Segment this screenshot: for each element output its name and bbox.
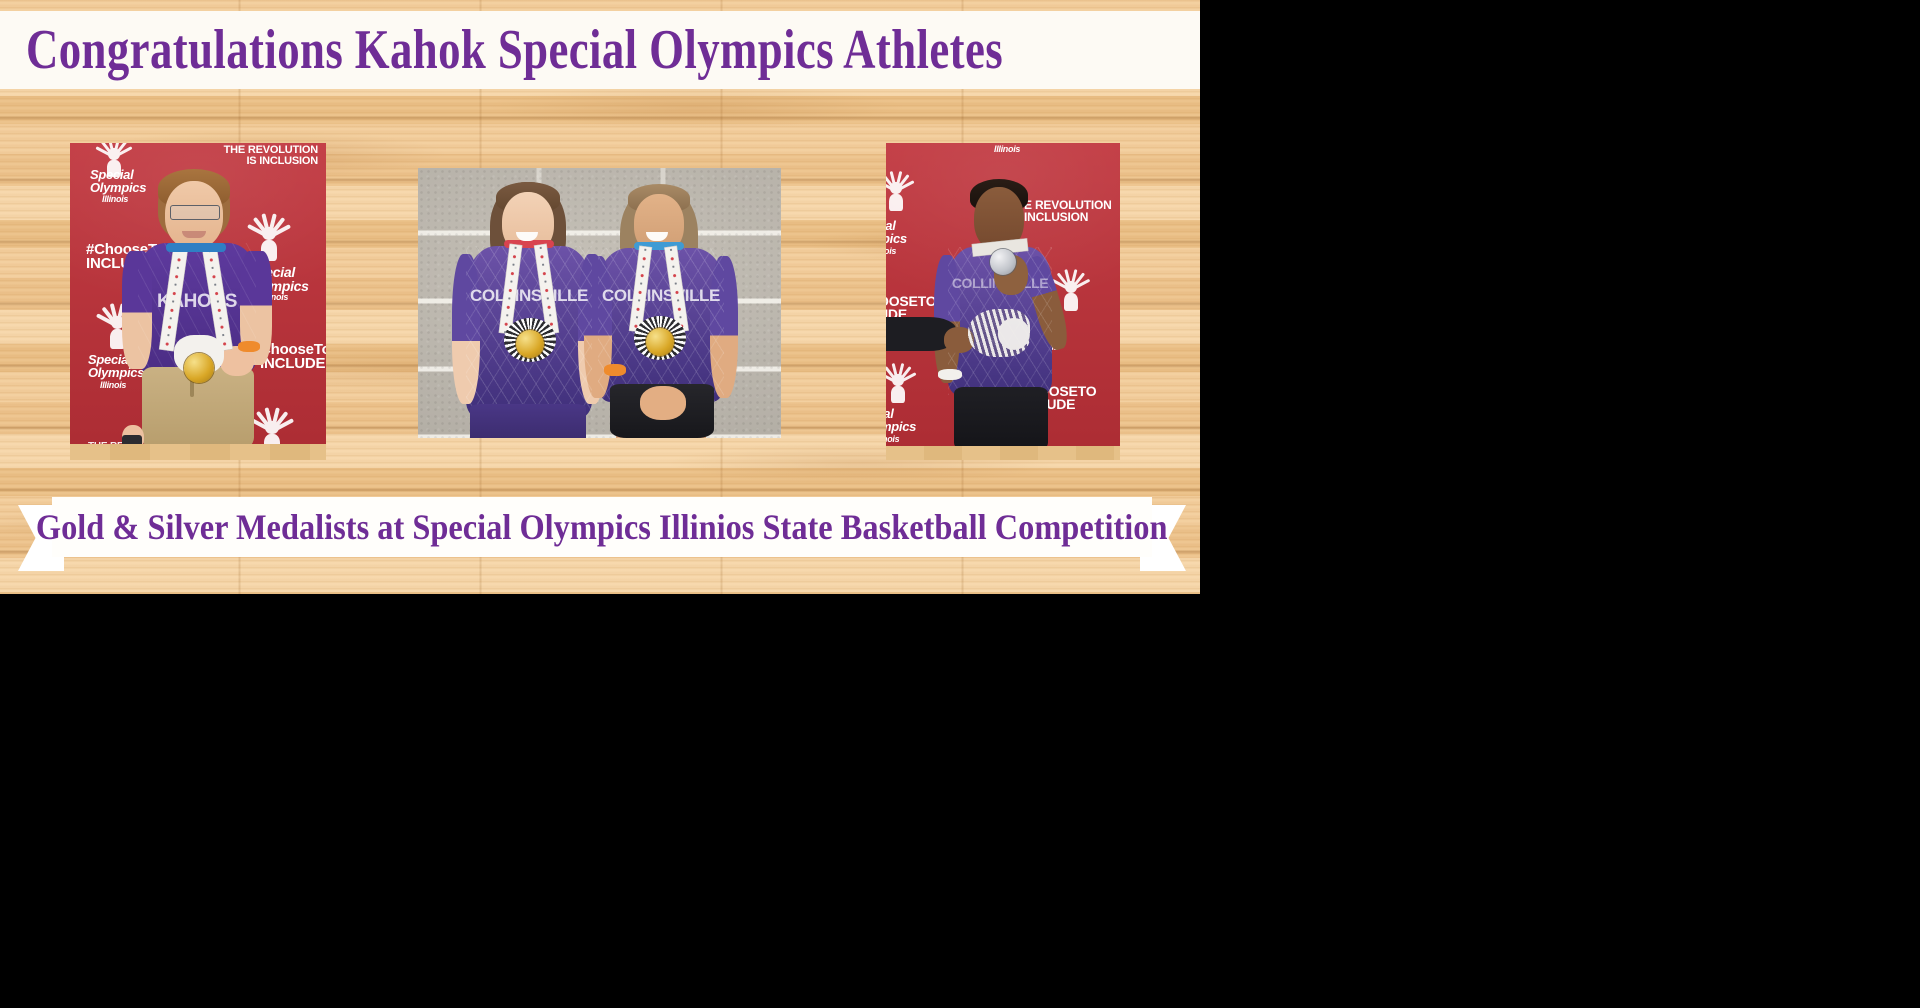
- wristband-orange: [238, 341, 260, 352]
- clasped-hands: [640, 386, 686, 420]
- photo-two-athletes[interactable]: COLLINSVILLE: [418, 168, 781, 438]
- mouth-smile: [182, 231, 206, 238]
- ribbon-body: Gold & Silver Medalists at Special Olymp…: [52, 497, 1152, 557]
- gym-floor-strip-3: [886, 446, 1120, 460]
- kahok-headdress-logo: [968, 309, 1030, 357]
- wristband-white-3: [938, 369, 962, 380]
- backdrop-wordmark-lower-sub: Illinois: [100, 381, 126, 390]
- shorts-3: [954, 387, 1048, 453]
- backdrop-wordmark-sub: Illinois: [102, 195, 128, 204]
- wristband-orange-right: [604, 364, 626, 376]
- caption-text: Gold & Silver Medalists at Special Olymp…: [36, 507, 1168, 547]
- backdrop3-wordmark-left: ial pics: [886, 219, 907, 246]
- backdrop3-wordmark-left-sub: ois: [886, 247, 896, 256]
- eyeglasses: [170, 205, 220, 220]
- backdrop-wordmark: Special Olympics: [90, 168, 146, 195]
- special-olympics-logo-icon-3a: [886, 169, 918, 213]
- title-banner: Congratulations Kahok Special Olympics A…: [0, 11, 1200, 89]
- shorts-left-athlete: [470, 404, 586, 438]
- backdrop3-top-sub: Illinois: [994, 145, 1020, 154]
- medal-left-athlete: [516, 330, 544, 358]
- page-title: Congratulations Kahok Special Olympics A…: [26, 20, 1003, 80]
- jersey-team-name: KAHOKS: [142, 291, 252, 313]
- medal-right-athlete: [646, 328, 674, 356]
- gym-floor-strip: [70, 444, 326, 460]
- poster-wood-background: Congratulations Kahok Special Olympics A…: [0, 0, 1200, 594]
- backdrop-revolution-text: THE REVOLUTION IS INCLUSION: [224, 145, 318, 167]
- backdrop3-wordmark-lowleft-sub: nois: [886, 435, 899, 444]
- caption-ribbon-banner: Gold & Silver Medalists at Special Olymp…: [18, 497, 1186, 557]
- screenshot-canvas: Congratulations Kahok Special Olympics A…: [0, 0, 1920, 1008]
- photo-athlete-gold-medal[interactable]: Special Olympics Illinois THE REVOLUTION…: [70, 143, 326, 460]
- backdrop3-revolution: E REVOLUTION INCLUSION: [1024, 199, 1112, 223]
- jersey-team-name-left: COLLINSVILLE: [468, 286, 590, 306]
- gold-medal: [184, 353, 214, 383]
- silver-medal: [990, 249, 1016, 275]
- backdrop3-wordmark-lowleft: ial mpics: [886, 407, 916, 434]
- special-olympics-logo-icon-3c: [886, 361, 920, 405]
- jersey-team-name-right: COLLINSVILLE: [600, 286, 722, 306]
- photo-athlete-silver-medal[interactable]: Illinois ial pics ois E REVOLUTION INCLU…: [886, 143, 1120, 460]
- medal-ribbon-collar: [166, 243, 226, 252]
